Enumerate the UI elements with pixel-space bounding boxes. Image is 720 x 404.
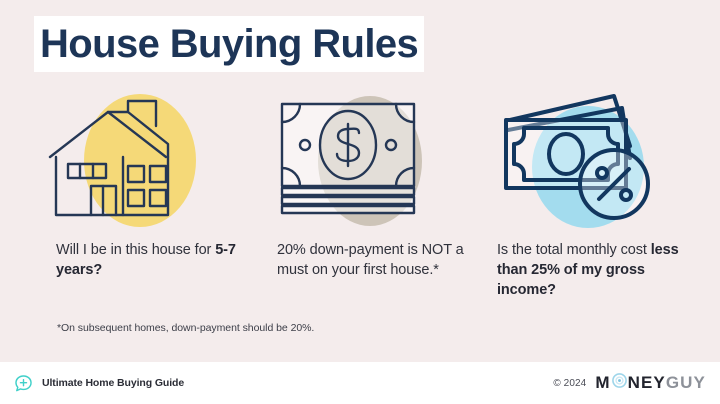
brand-guy: GUY	[666, 373, 706, 393]
infographic-root: House Buying Rules	[0, 0, 720, 404]
column-1-text: Will I be in this house for 5-7 years?	[56, 240, 256, 280]
icon-row	[0, 88, 720, 233]
column-1-icon	[28, 88, 258, 233]
house-icon	[28, 88, 258, 233]
footer-guide-label: Ultimate Home Buying Guide	[42, 377, 184, 389]
page-title-highlight: House Buying Rules	[34, 16, 424, 72]
chat-plus-icon	[14, 374, 33, 393]
column-2-text-lead: 20% down-payment is NOT a must on your f…	[277, 242, 464, 278]
column-1-text-lead: Will I be in this house for	[56, 242, 215, 258]
brand-ney: NEY	[628, 373, 666, 393]
cash-percent-icon	[482, 88, 712, 233]
footer-bar: Ultimate Home Buying Guide © 2024 M NEY …	[0, 362, 720, 404]
footer-brand: © 2024 M NEY GUY	[553, 373, 706, 393]
page-title: House Buying Rules	[40, 24, 418, 64]
column-3-text-lead: Is the total monthly cost	[497, 242, 651, 258]
brand-m: M	[595, 373, 610, 393]
cash-bill-icon	[258, 88, 488, 233]
column-3-text: Is the total monthly cost less than 25% …	[497, 240, 697, 300]
footer-guide-link[interactable]: Ultimate Home Buying Guide	[14, 374, 184, 393]
column-2-text: 20% down-payment is NOT a must on your f…	[277, 240, 477, 280]
column-2-icon	[258, 88, 488, 233]
copyright-text: © 2024	[553, 378, 586, 389]
target-circle-logo	[612, 373, 627, 393]
column-3-icon	[482, 88, 712, 233]
footnote: *On subsequent homes, down-payment shoul…	[57, 322, 314, 334]
moneyguy-logo[interactable]: M NEY GUY	[595, 373, 706, 393]
